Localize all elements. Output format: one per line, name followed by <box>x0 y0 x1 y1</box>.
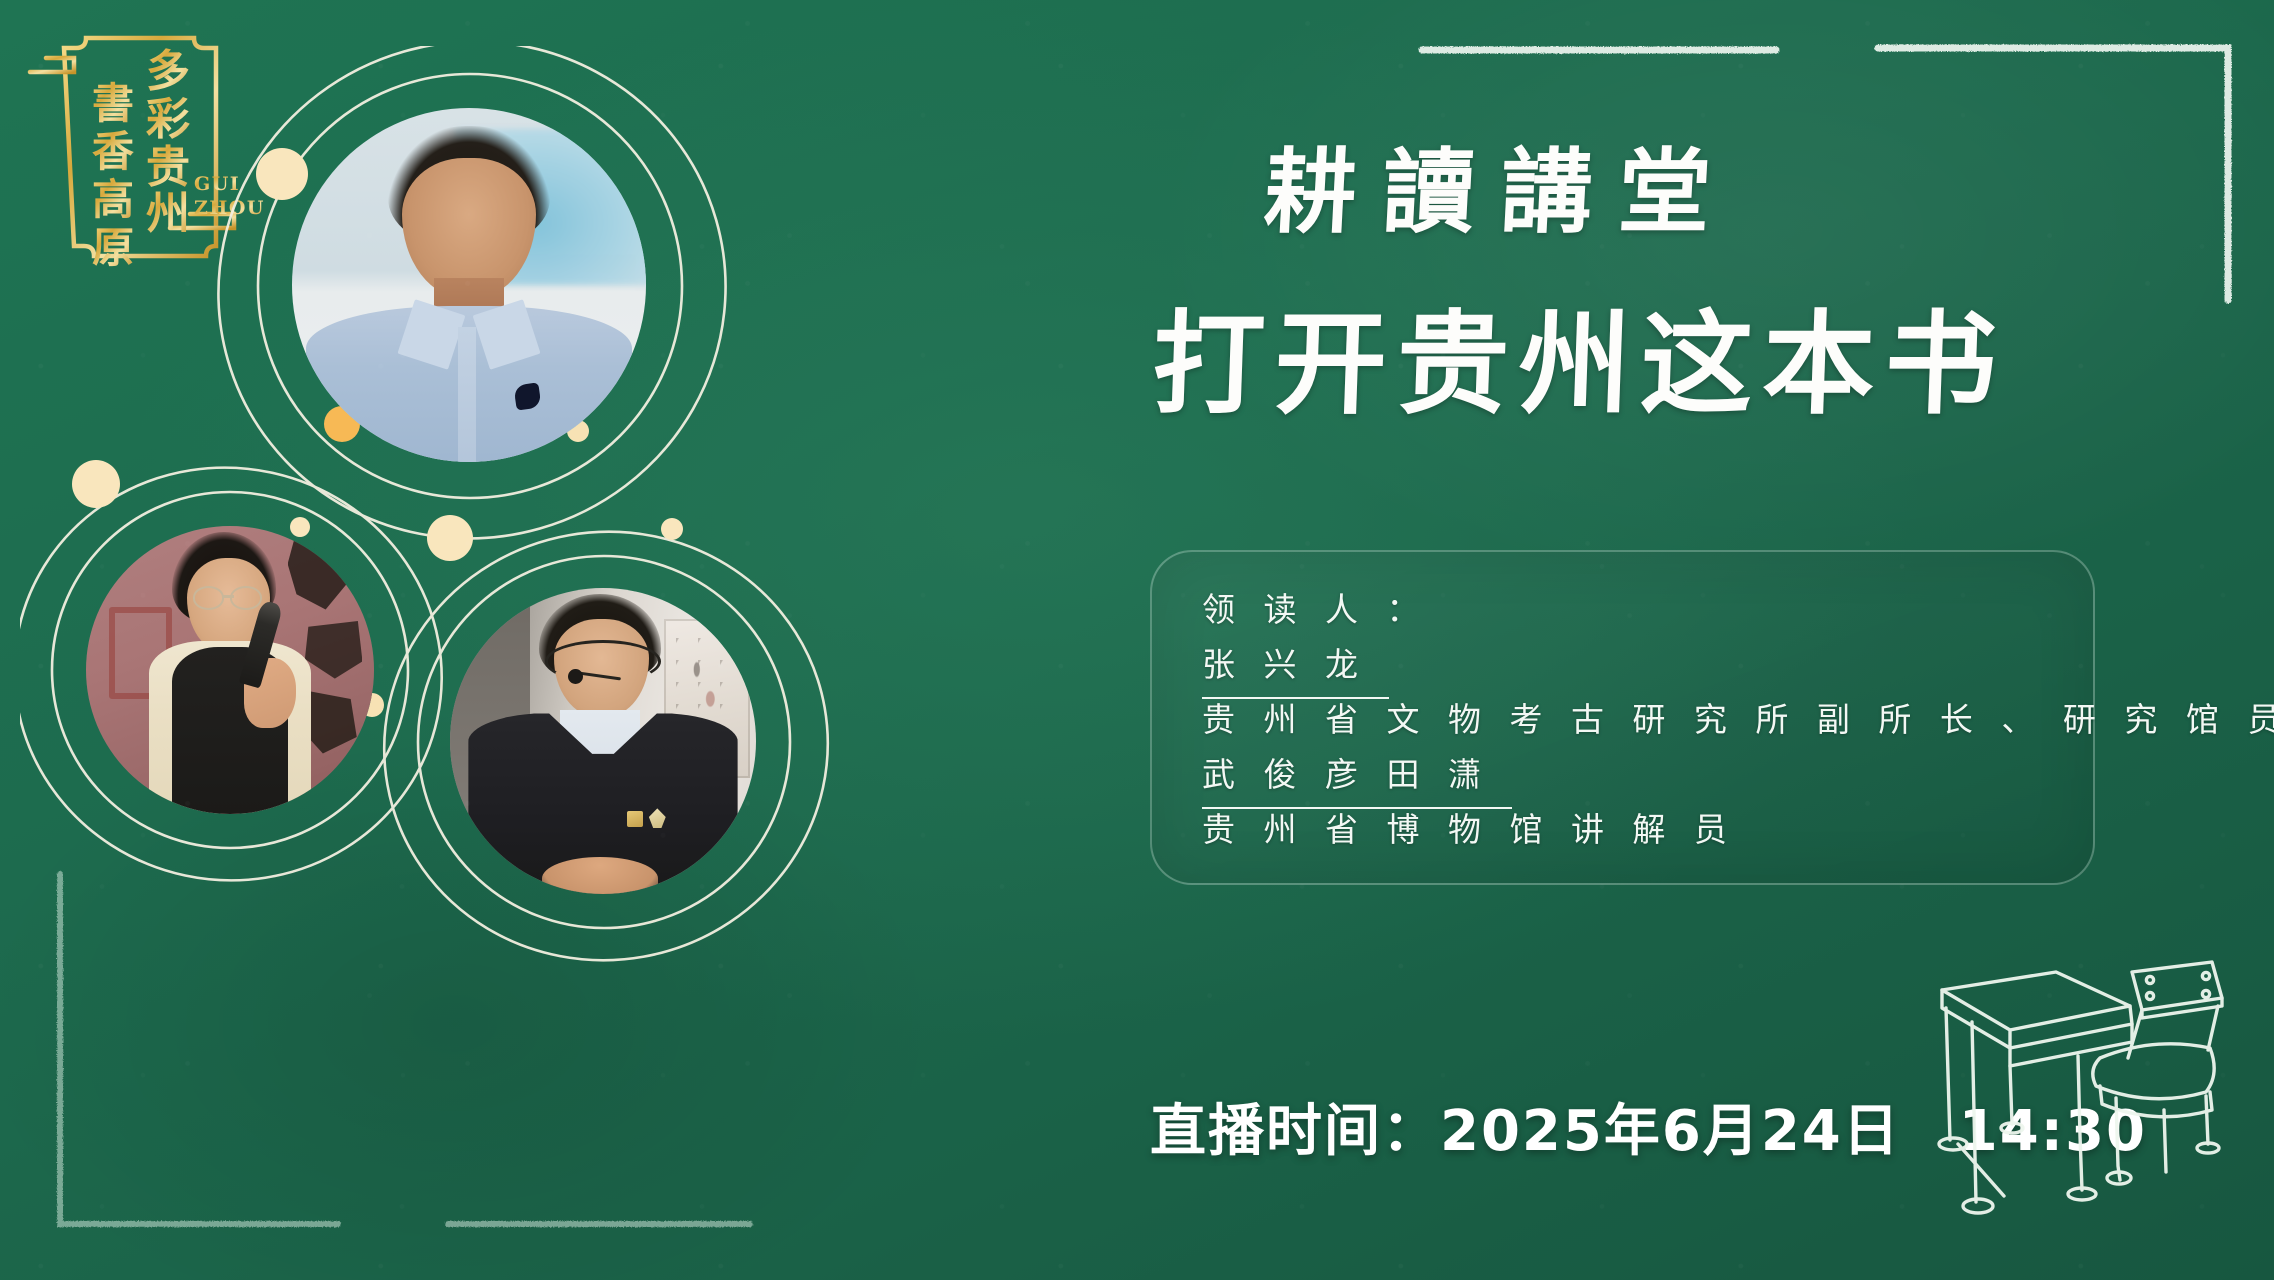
reader-2-names: 武 俊 彦 田 潇 <box>1202 747 1512 809</box>
program-title: 耕讀講堂 <box>1262 118 1741 251</box>
poster-canvas: 多 彩 贵 州 書 香 高 原 GUI ZHOU <box>0 0 2274 1280</box>
school-desk-and-chair-icon <box>1906 928 2266 1258</box>
episode-title: 打开贵州这本书 <box>1150 274 2010 436</box>
reader-2-affiliation: 贵 州 省 博 物 馆 讲 解 员 <box>1202 810 1736 849</box>
portrait-zhang-xinglong <box>292 108 646 462</box>
portrait-cluster <box>20 46 1110 1186</box>
portrait-female-host-with-microphone <box>86 526 374 814</box>
readers-info-card: 领 读 人 ： 张 兴 龙 贵 州 省 文 物 考 古 研 究 所 副 所 长 … <box>1150 550 2095 885</box>
portrait-male-docent-with-headset <box>450 588 756 894</box>
reader-1-affiliation: 贵 州 省 文 物 考 古 研 究 所 副 所 长 、 研 究 馆 员 <box>1202 700 2274 739</box>
reader-1-names: 张 兴 龙 <box>1202 637 1389 699</box>
readers-label: 领 读 人 ： <box>1202 590 1428 629</box>
